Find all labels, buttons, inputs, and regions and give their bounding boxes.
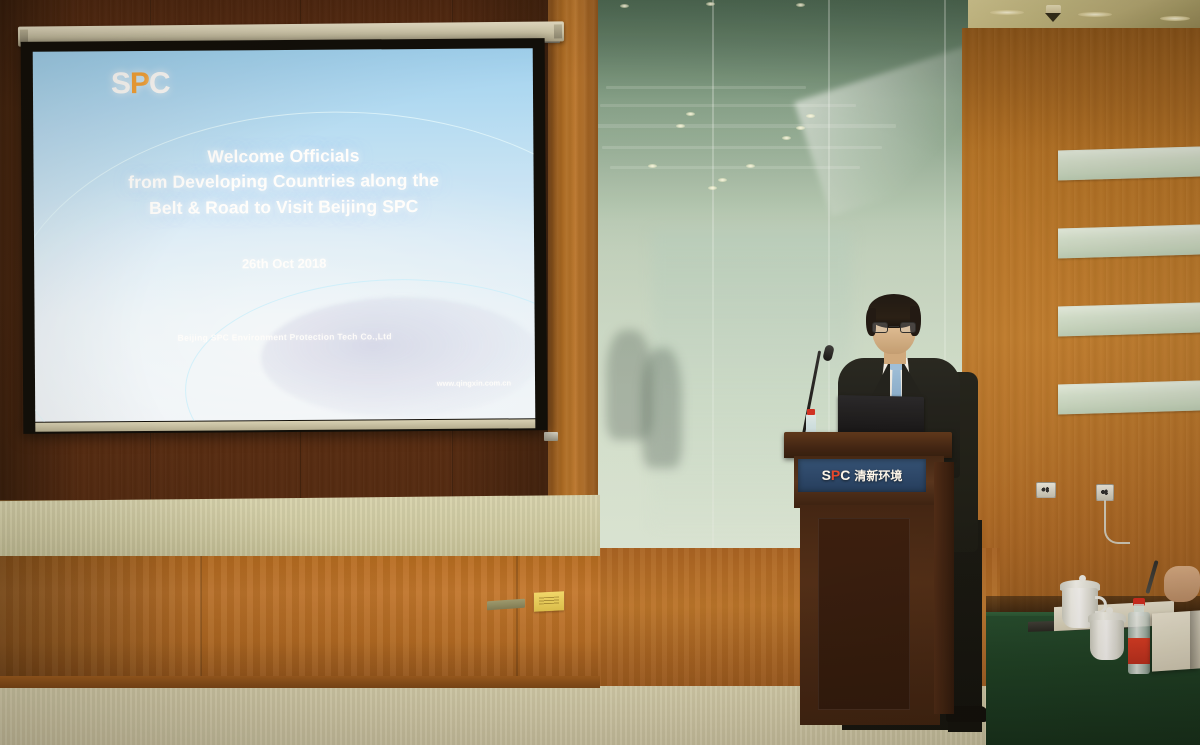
podium-logo-letter-s: S [822, 467, 831, 483]
slide-title: Welcome Officials from Developing Countr… [33, 142, 534, 222]
sprinkler-head-icon [1042, 5, 1064, 23]
glass-reflection-line [602, 146, 882, 149]
teacup [1090, 610, 1124, 660]
recessed-ceiling-light [1160, 16, 1190, 21]
frosted-glass-panel [1058, 223, 1200, 258]
logo-letter-s: S [111, 67, 130, 100]
speaker-glasses-icon [872, 322, 916, 333]
water-bottle [1128, 598, 1150, 674]
slide-title-line-2: from Developing Countries along the [34, 168, 534, 197]
recessed-ceiling-light [1078, 12, 1112, 17]
slide-spc-logo: SPC [111, 67, 170, 101]
stage-yellow-card [534, 591, 564, 612]
reflected-light-dot [676, 124, 685, 128]
stage-plinth [0, 676, 600, 688]
reflected-light-dot [782, 136, 791, 140]
stage-front-face [0, 556, 600, 678]
hand [1164, 566, 1200, 602]
slide-surface: SPC Welcome Officials from Developing Co… [33, 48, 536, 421]
stage-platform-top [0, 495, 600, 563]
glass-reflected-figure [642, 348, 682, 468]
reflected-light-dot [806, 114, 815, 118]
reflected-light-dot [620, 4, 629, 8]
slide-title-line-1: Welcome Officials [33, 142, 533, 171]
wall-socket-icon[interactable] [1096, 484, 1114, 501]
podium-panel-inset [818, 518, 910, 710]
reflected-light-dot [796, 3, 805, 7]
podium-logo-letter-c: C [840, 467, 850, 483]
frosted-glass-panel [1058, 379, 1200, 414]
reflected-light-dot [648, 164, 657, 168]
glass-mullion [712, 0, 714, 556]
podium-sign: SPC清新环境 [798, 459, 926, 492]
logo-letter-c: C [149, 67, 170, 100]
reflected-light-dot [706, 2, 715, 6]
frosted-glass-panel [1058, 145, 1200, 180]
projection-screen: SPC Welcome Officials from Developing Co… [21, 38, 548, 434]
podium-top [784, 432, 952, 458]
reflected-light-dot [796, 126, 805, 130]
reflected-light-dot [718, 178, 727, 182]
recessed-ceiling-light [990, 10, 1024, 15]
podium-logo-letter-p: P [831, 467, 840, 483]
reflected-light-dot [746, 164, 755, 168]
podium-side [934, 462, 954, 714]
wall-socket-icon[interactable] [1036, 482, 1056, 498]
podium-sign-chinese: 清新环境 [854, 469, 902, 483]
slide-ellipse-shade [260, 296, 535, 418]
power-cord [1104, 500, 1130, 544]
reflected-light-dot [708, 186, 717, 190]
slide-website-url: www.qingxin.com.cn [437, 378, 511, 388]
glass-reflection-line [600, 104, 856, 107]
glass-reflection-line [596, 124, 896, 128]
name-card [1152, 610, 1200, 671]
wood-column [548, 0, 598, 560]
logo-letter-p: P [130, 67, 149, 100]
glass-reflection-diagonal [794, 44, 968, 217]
frosted-glass-panel [1058, 301, 1200, 336]
reflected-light-dot [686, 112, 695, 116]
slide-title-line-3: Belt & Road to Visit Beijing SPC [34, 193, 534, 222]
conference-hall-photo: SPC Welcome Officials from Developing Co… [0, 0, 1200, 745]
glass-reflection-line [606, 86, 806, 89]
